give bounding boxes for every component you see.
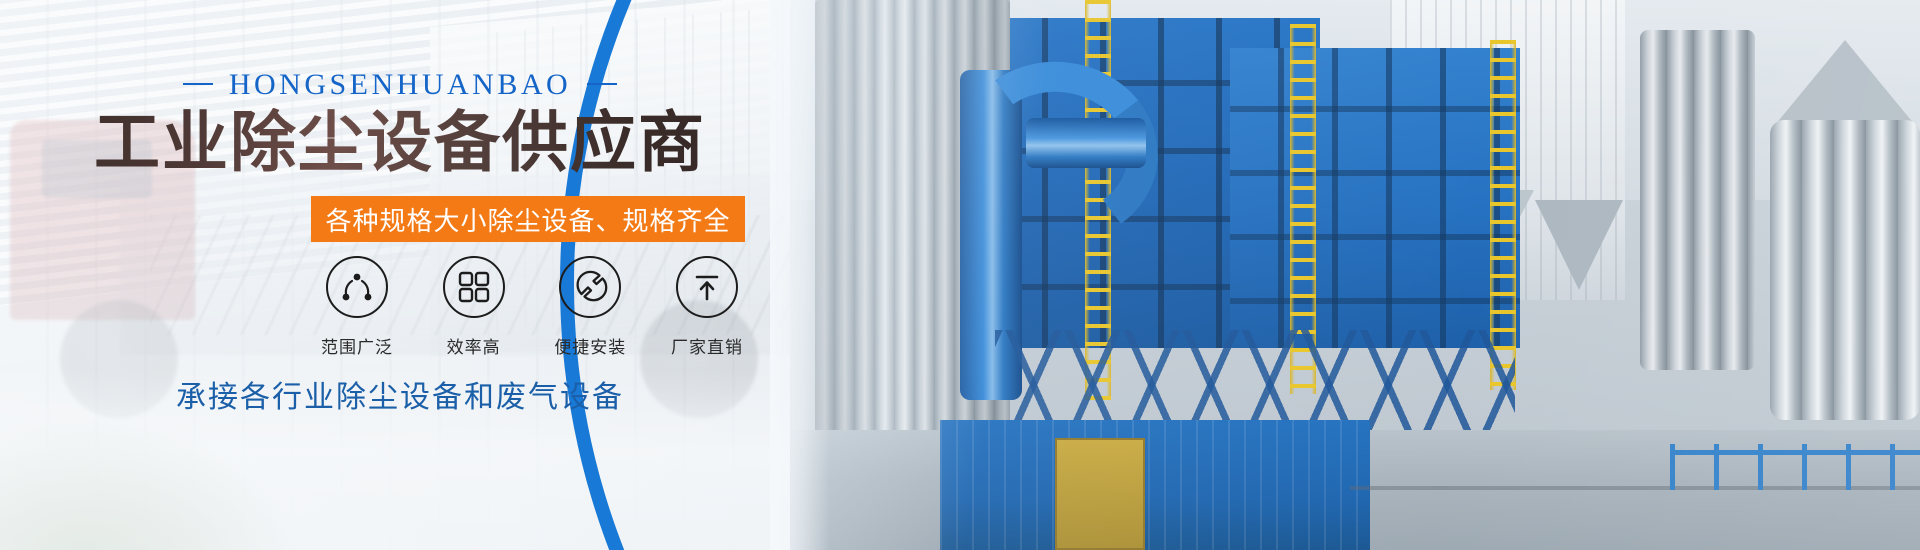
feature-label: 便捷安装 xyxy=(554,333,626,358)
feature-item-efficiency[interactable]: 效率高 xyxy=(423,256,525,358)
feature-item-factory-direct[interactable]: 厂家直销 xyxy=(656,256,758,358)
feature-list: 范围广泛 效率高 xyxy=(306,256,758,358)
tagline-text: 各种规格大小除尘设备、规格齐全 xyxy=(325,201,730,238)
grid-squares-icon xyxy=(443,256,505,318)
brand-eyebrow: HONGSENHUANBAO xyxy=(0,68,800,102)
hero-banner: HONGSENHUANBAO 工业除尘设备供应商 各种规格大小除尘设备、规格齐全… xyxy=(0,0,1920,550)
feature-label: 效率高 xyxy=(447,333,501,358)
feature-item-installation[interactable]: 便捷安装 xyxy=(539,256,641,358)
factory-photo xyxy=(790,0,1920,550)
banner-subline: 承接各行业除尘设备和废气设备 xyxy=(0,372,800,416)
up-arrow-icon xyxy=(676,256,738,318)
network-nodes-icon xyxy=(326,256,388,318)
feature-item-coverage[interactable]: 范围广泛 xyxy=(306,256,408,358)
eyebrow-dash-left xyxy=(183,83,213,85)
photo-haze-overlay xyxy=(790,0,1920,550)
eyebrow-dash-right xyxy=(587,83,617,85)
eyebrow-text: HONGSENHUANBAO xyxy=(229,68,571,101)
banner-headline: 工业除尘设备供应商 xyxy=(0,108,800,177)
feature-label: 厂家直销 xyxy=(671,333,743,358)
tagline-highlight-bar: 各种规格大小除尘设备、规格齐全 xyxy=(311,196,745,242)
feature-label: 范围广泛 xyxy=(321,333,393,358)
wrench-icon xyxy=(559,256,621,318)
banner-content: HONGSENHUANBAO 工业除尘设备供应商 各种规格大小除尘设备、规格齐全… xyxy=(0,0,800,550)
